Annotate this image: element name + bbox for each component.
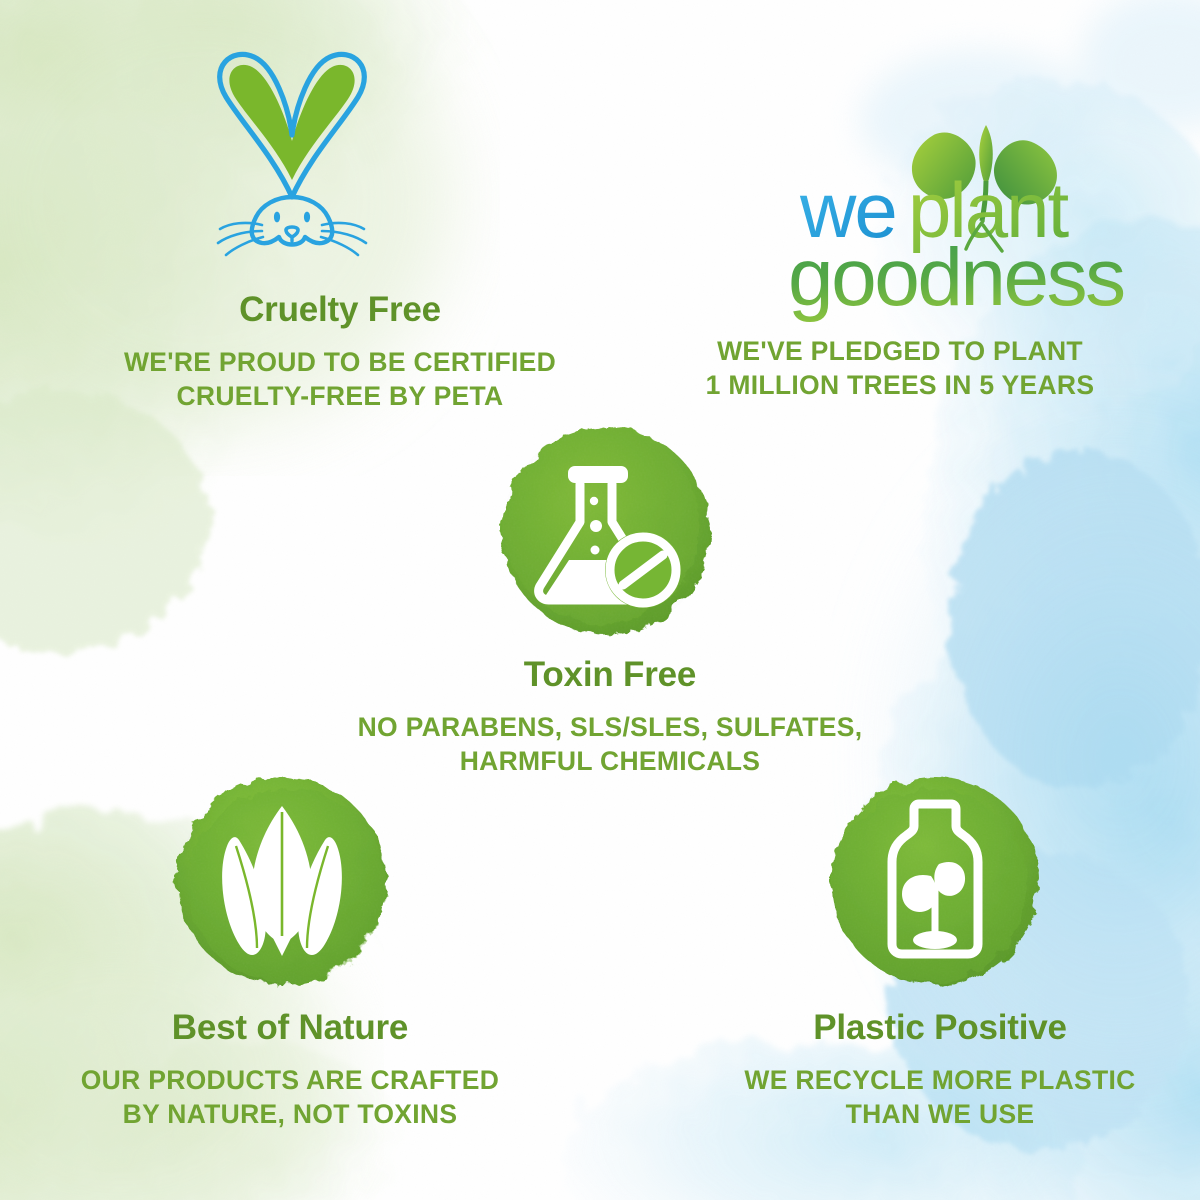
desc-line-2: CRUELTY-FREE BY PETA (35, 380, 645, 414)
bubble-2 (590, 520, 602, 532)
logo-word-goodness: goodness (788, 232, 1124, 323)
three-leaves-icon (165, 768, 400, 998)
badge-plastic-positive-description: WE RECYCLE MORE PLASTIC THAN WE USE (650, 1064, 1200, 1132)
we-plant-goodness-logo: we plant goodness (790, 125, 1190, 310)
peta-bunny-heart-icon (190, 45, 395, 260)
desc-line-2: BY NATURE, NOT TOXINS (0, 1098, 585, 1132)
flask-no-entry-icon (490, 418, 722, 644)
badge-we-plant-goodness-description: WE'VE PLEDGED TO PLANT 1 MILLION TREES I… (615, 335, 1185, 403)
bunny-eye-left (274, 212, 280, 223)
sprout-soil (913, 931, 957, 949)
badge-toxin-free: Toxin Free No PARABENS, SLS/SLES, SULFAT… (310, 655, 910, 779)
desc-line-1: WE'RE PROUD TO BE CERTIFIED (35, 346, 645, 380)
badge-best-of-nature-description: OUR PRODUCTS ARE CRAFTED BY NATURE, NOT … (0, 1064, 585, 1132)
desc-line-1: No PARABENS, SLS/SLES, SULFATES, (310, 711, 910, 745)
badge-toxin-free-description: No PARABENS, SLS/SLES, SULFATES, HARMFUL… (310, 711, 910, 779)
bubble-4 (558, 582, 571, 595)
bubble-3 (591, 546, 600, 555)
badge-plastic-positive-title: Plastic Positive (650, 1008, 1200, 1048)
badge-cruelty-free-title: Cruelty Free (35, 290, 645, 330)
badge-best-of-nature-title: Best of Nature (0, 1008, 585, 1048)
badge-cruelty-free: Cruelty Free WE'RE PROUD TO BE CERTIFIED… (35, 290, 645, 414)
badge-cruelty-free-description: WE'RE PROUD TO BE CERTIFIED CRUELTY-FREE… (35, 346, 645, 414)
bunny-whiskers-right (321, 223, 366, 255)
bunny-eye-right (304, 212, 310, 223)
bubble-1 (590, 497, 598, 505)
badge-toxin-free-title: Toxin Free (310, 655, 910, 695)
desc-line-2: THAN WE USE (650, 1098, 1200, 1132)
desc-line-2: 1 MILLION TREES IN 5 YEARS (615, 369, 1185, 403)
sprout-leaf-right (934, 862, 965, 896)
badge-we-plant-goodness: WE'VE PLEDGED TO PLANT 1 MILLION TREES I… (615, 335, 1185, 403)
bottle-sprout-icon (818, 768, 1053, 998)
bunny-whiskers-left (218, 223, 263, 255)
badge-plastic-positive: Plastic Positive WE RECYCLE MORE PLASTIC… (650, 1008, 1200, 1132)
desc-line-1: WE'VE PLEDGED TO PLANT (615, 335, 1185, 369)
no-entry-icon (605, 532, 681, 608)
badge-best-of-nature: Best of Nature OUR PRODUCTS ARE CRAFTED … (0, 1008, 585, 1132)
desc-line-2: HARMFUL CHEMICALS (310, 745, 910, 779)
desc-line-1: OUR PRODUCTS ARE CRAFTED (0, 1064, 585, 1098)
desc-line-1: WE RECYCLE MORE PLASTIC (650, 1064, 1200, 1098)
